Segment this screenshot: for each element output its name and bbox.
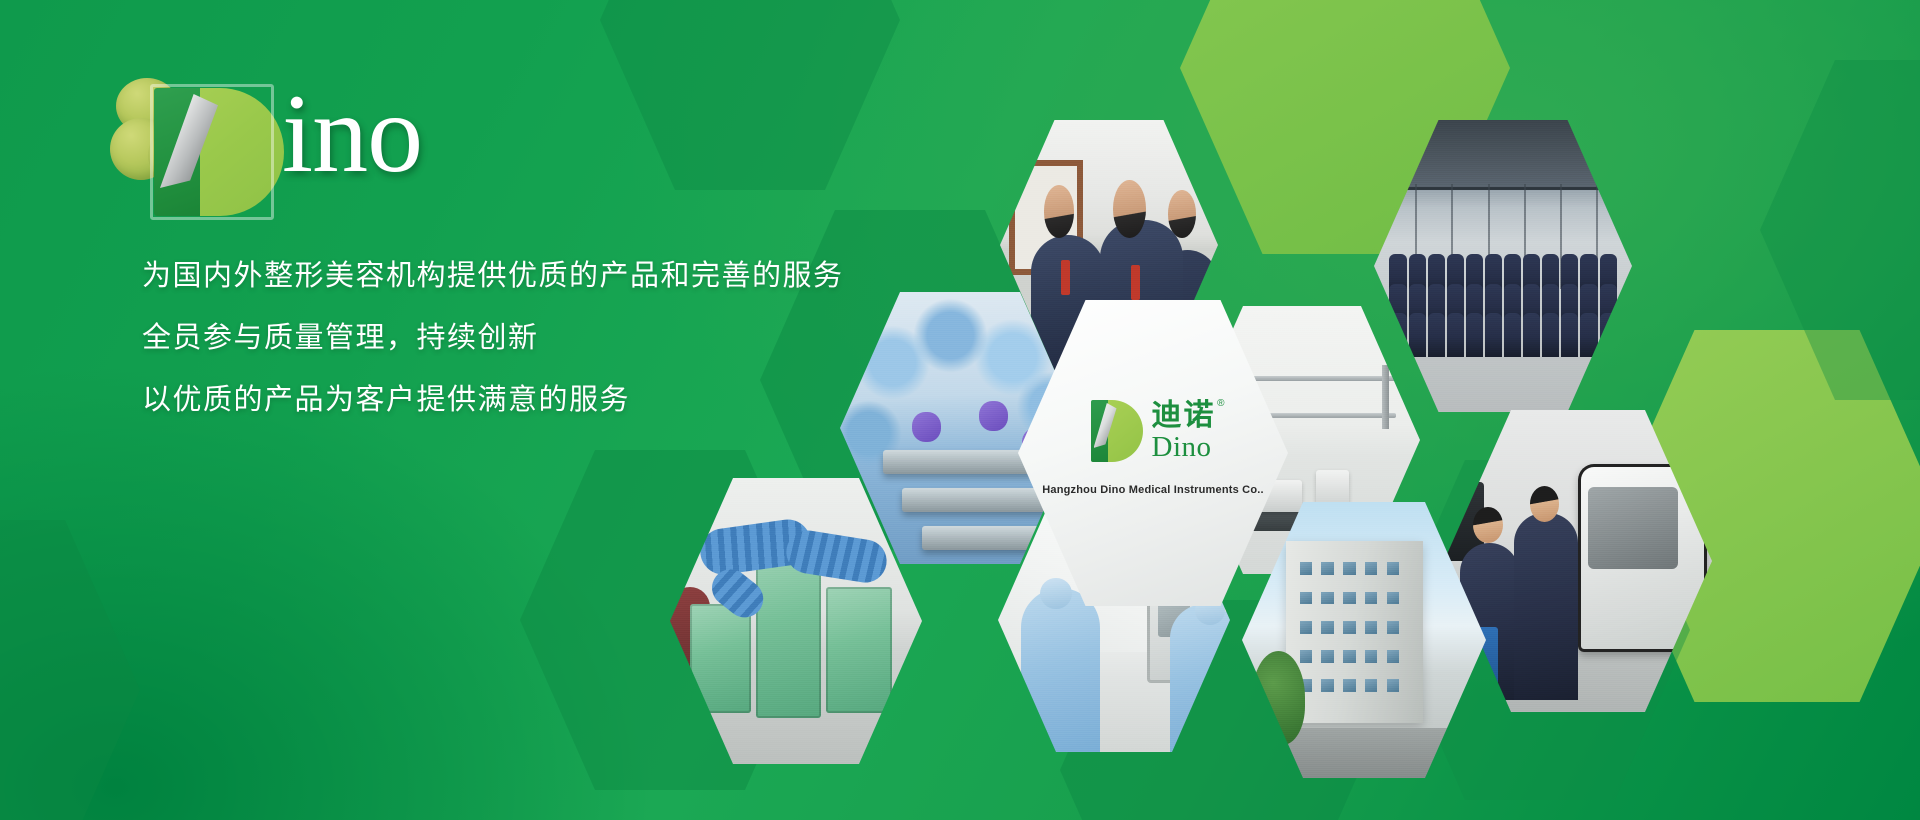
dino-mark-small-icon bbox=[1091, 400, 1143, 462]
brand-wordmark: ino bbox=[282, 78, 422, 190]
hex-photo-group-staff[interactable] bbox=[1374, 120, 1632, 412]
hexagon-photo-collage: 迪诺® Dino Hangzhou Dino Medical Instrumen… bbox=[840, 110, 1920, 710]
center-logo-cn-name: 迪诺® bbox=[1152, 401, 1216, 431]
letter-d-icon bbox=[154, 88, 286, 216]
bg-hexagon-dark-left bbox=[0, 520, 140, 820]
slogan-list: 为国内外整形美容机构提供优质的产品和完善的服务 全员参与质量管理，持续创新 以优… bbox=[142, 262, 844, 448]
hero-banner: ino 为国内外整形美容机构提供优质的产品和完善的服务 全员参与质量管理，持续创… bbox=[0, 0, 1920, 820]
slogan-line-2: 全员参与质量管理，持续创新 bbox=[142, 324, 844, 353]
center-logo-en-name: Dino bbox=[1152, 433, 1216, 462]
slogan-line-1: 为国内外整形美容机构提供优质的产品和完善的服务 bbox=[142, 262, 844, 291]
center-logo-lockup: 迪诺® Dino bbox=[1091, 400, 1216, 462]
slogan-line-3: 以优质的产品为客户提供满意的服务 bbox=[142, 386, 844, 415]
brand-logo-block: ino bbox=[110, 72, 750, 190]
hex-photo-cnc-workshop[interactable] bbox=[1444, 410, 1712, 712]
registered-mark-icon: ® bbox=[1217, 399, 1226, 409]
center-logo-company-line: Hangzhou Dino Medical Instruments Co.. bbox=[1042, 484, 1264, 496]
dino-logo-mark: ino bbox=[110, 72, 750, 190]
